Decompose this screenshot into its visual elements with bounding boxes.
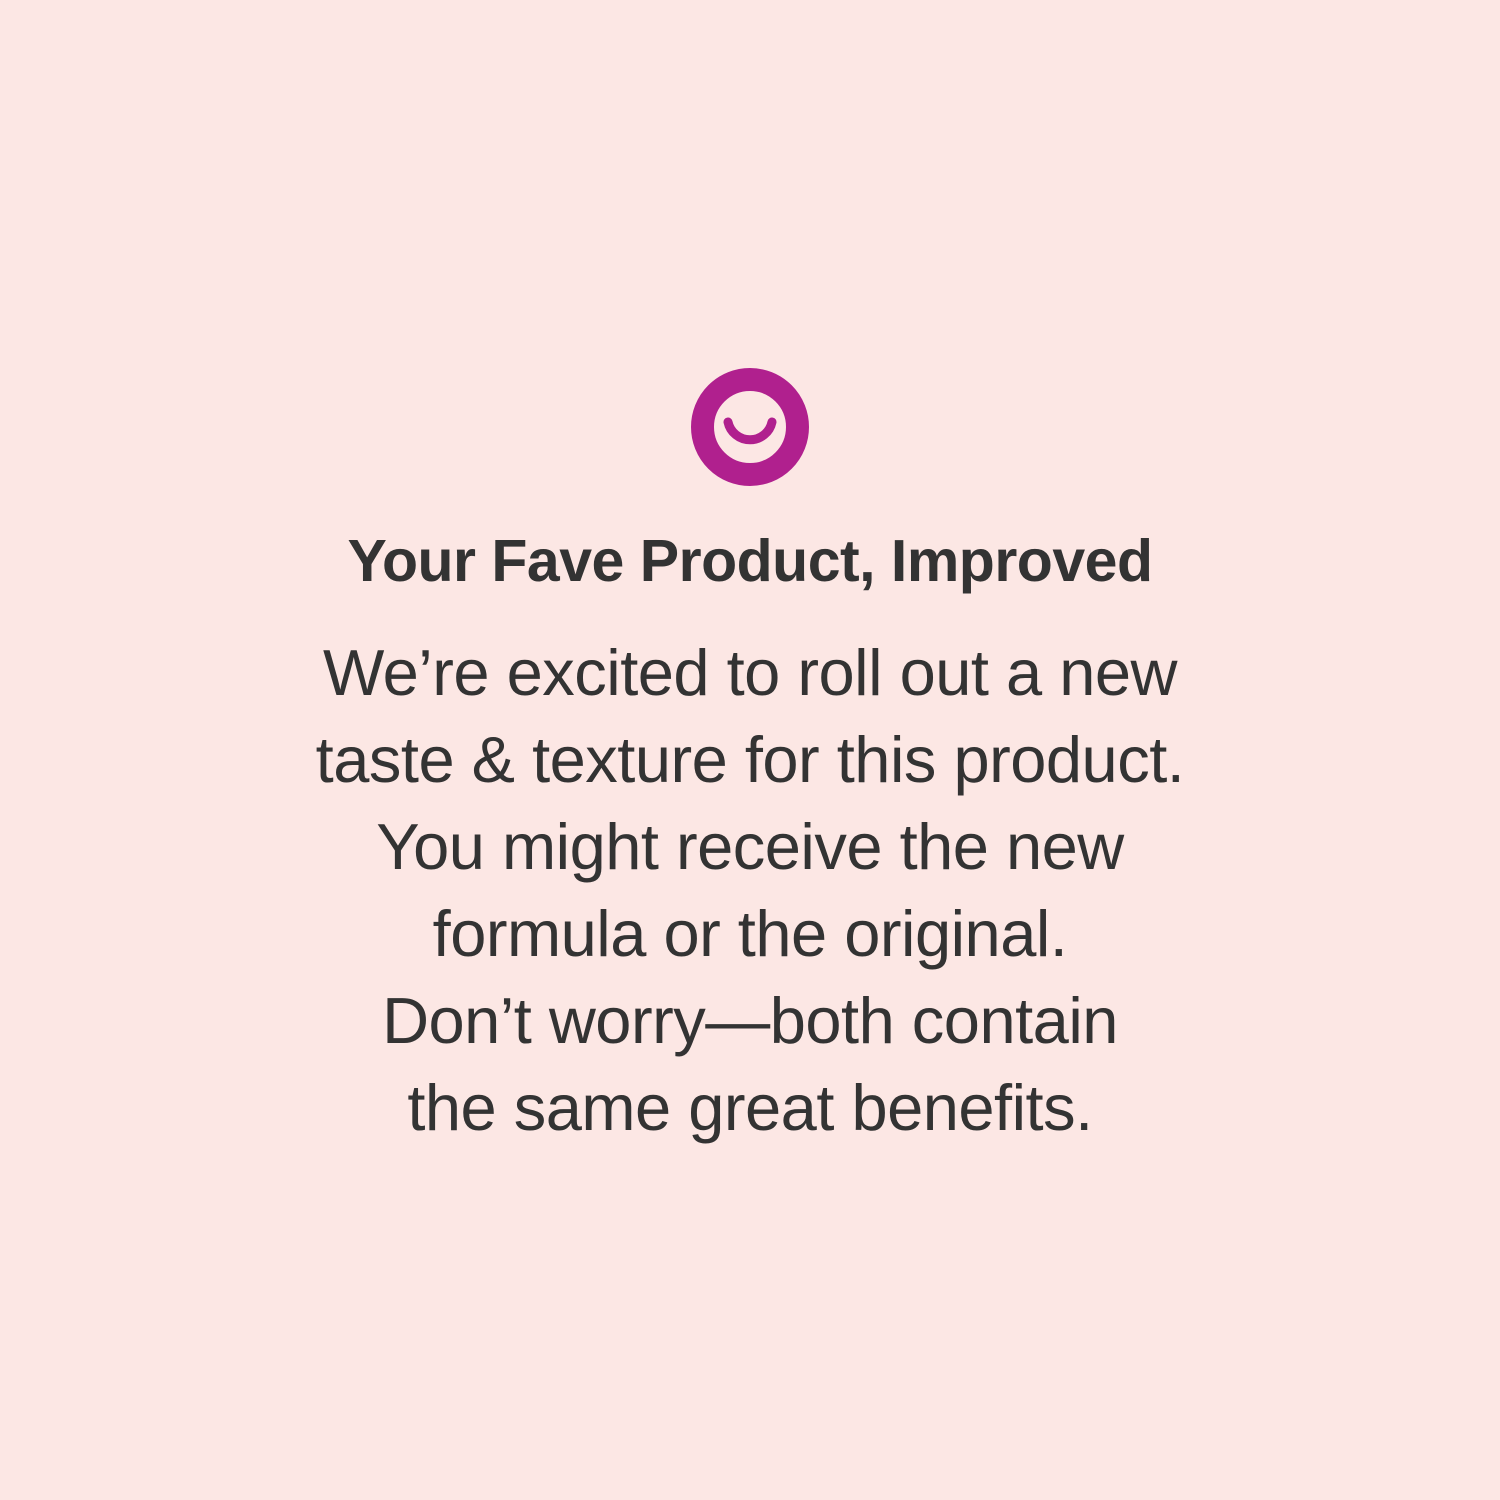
body-line: Don’t worry—both contain — [120, 977, 1380, 1064]
body-line: taste & texture for this product. — [120, 716, 1380, 803]
body-copy: We’re excited to roll out a new taste & … — [120, 629, 1380, 1151]
smiley-ring-logo-icon — [690, 367, 810, 487]
body-line: We’re excited to roll out a new — [120, 629, 1380, 716]
page-title: Your Fave Product, Improved — [347, 532, 1152, 591]
logo-outer-ring — [703, 380, 798, 475]
body-line: You might receive the new — [120, 803, 1380, 890]
announcement-card: Your Fave Product, Improved We’re excite… — [0, 0, 1500, 1500]
body-line: the same great benefits. — [120, 1064, 1380, 1151]
logo-smile-arc — [728, 422, 772, 440]
body-line: formula or the original. — [120, 890, 1380, 977]
